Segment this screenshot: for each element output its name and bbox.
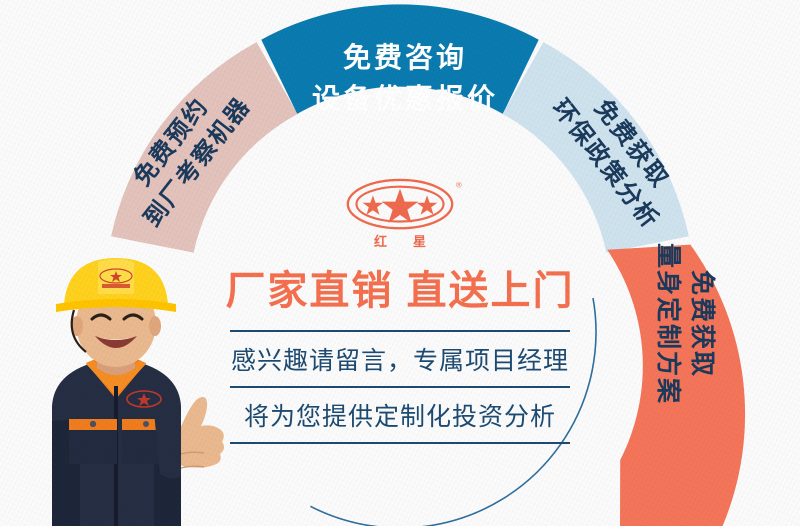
three-stars-oval-icon: ®: [330, 178, 470, 236]
hongxing-logo: ® 红星: [330, 178, 470, 250]
ring-segment-free-consult[interactable]: [261, 4, 538, 114]
divider-bottom: [230, 442, 570, 444]
subline-2: 将为您提供定制化投资分析: [190, 388, 610, 442]
page-title: 厂家直销 直送上门: [190, 258, 610, 316]
registered-mark: ®: [456, 181, 462, 190]
logo-subtext: 红星: [330, 231, 470, 250]
worker-photo: [0, 236, 234, 526]
subline-1: 感兴趣请留言，专属项目经理: [190, 332, 610, 386]
center-content: ® 红星 厂家直销 直送上门 感兴趣请留言，专属项目经理 将为您提供定制化投资分…: [190, 178, 610, 444]
promo-banner: 免费预约 到厂考察机器 免费咨询 设备优惠报价 免费获取 环保政策分析 免费获取…: [0, 0, 800, 526]
hard-hat-icon: [56, 258, 176, 312]
